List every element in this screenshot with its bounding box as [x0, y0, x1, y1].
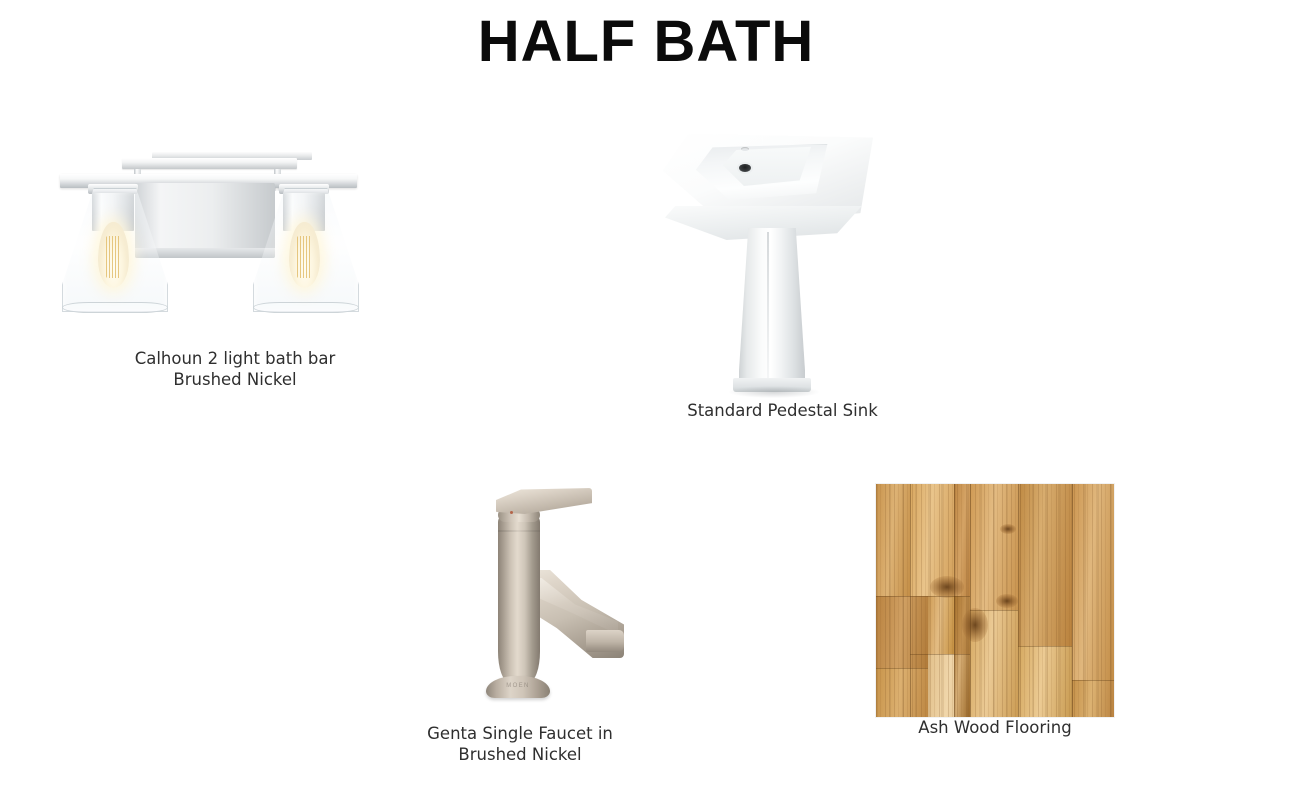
faucet-temperature-indicator	[510, 511, 513, 514]
floor-plank	[1072, 484, 1114, 680]
sink-column-edge	[767, 232, 769, 384]
pedestal-sink-image	[645, 128, 920, 400]
floor-seam	[954, 484, 955, 717]
light-lamp-left	[62, 184, 166, 334]
light-filament-left	[106, 236, 121, 278]
light-lamp-right	[253, 184, 357, 334]
floor-plank	[1020, 484, 1072, 646]
floor-seam	[876, 668, 928, 669]
light-filament-right	[297, 236, 312, 278]
floor-plank	[876, 596, 928, 668]
floor-seam	[970, 484, 971, 717]
floor-knot	[962, 608, 988, 642]
product-card-vanity-light[interactable]: Calhoun 2 light bath bar Brushed Nickel	[60, 128, 410, 390]
faucet-body-seam	[498, 530, 540, 532]
vanity-light-caption: Calhoun 2 light bath bar Brushed Nickel	[60, 348, 410, 390]
sink-drop-shadow	[729, 386, 819, 398]
floor-seam	[1018, 646, 1072, 647]
floor-seam	[876, 596, 970, 597]
light-shade-rim-left	[62, 302, 168, 313]
faucet-caption: Genta Single Faucet in Brushed Nickel	[400, 723, 640, 765]
floor-seam	[1072, 680, 1114, 681]
floor-seam	[970, 610, 1018, 611]
page-title: HALF BATH	[0, 8, 1292, 75]
floor-knot	[996, 594, 1018, 608]
floor-plank	[876, 668, 928, 717]
floor-plank	[928, 596, 954, 654]
faucet-brand-logo: MOEN	[494, 683, 542, 689]
floor-seam	[910, 484, 911, 717]
flooring-caption: Ash Wood Flooring	[876, 717, 1114, 738]
faucet-spout-tip	[586, 630, 624, 652]
product-card-flooring[interactable]: Ash Wood Flooring	[876, 484, 1114, 738]
ash-wood-flooring-swatch	[876, 484, 1114, 717]
floor-knot	[930, 576, 964, 598]
faucet-image: MOEN	[400, 478, 640, 723]
floor-plank	[970, 484, 1020, 610]
light-top-plate	[122, 158, 297, 169]
sink-faucet-hole	[741, 147, 749, 151]
product-card-faucet[interactable]: MOEN Genta Single Faucet in Brushed Nick…	[400, 478, 640, 765]
light-shade-rim-right	[253, 302, 359, 313]
vanity-light-image	[60, 128, 410, 348]
floor-plank	[876, 484, 910, 612]
floor-seam	[1072, 484, 1073, 717]
floor-seam	[910, 654, 970, 655]
sink-pedestal-column	[739, 228, 805, 390]
product-card-pedestal-sink[interactable]: Standard Pedestal Sink	[645, 128, 920, 421]
pedestal-sink-caption: Standard Pedestal Sink	[645, 400, 920, 421]
sink-drain	[739, 164, 751, 172]
floor-plank	[1072, 680, 1114, 717]
floor-knot	[1000, 524, 1016, 534]
floor-plank	[1018, 646, 1072, 717]
faucet-body-column	[498, 512, 540, 682]
floor-seam	[1018, 484, 1019, 717]
